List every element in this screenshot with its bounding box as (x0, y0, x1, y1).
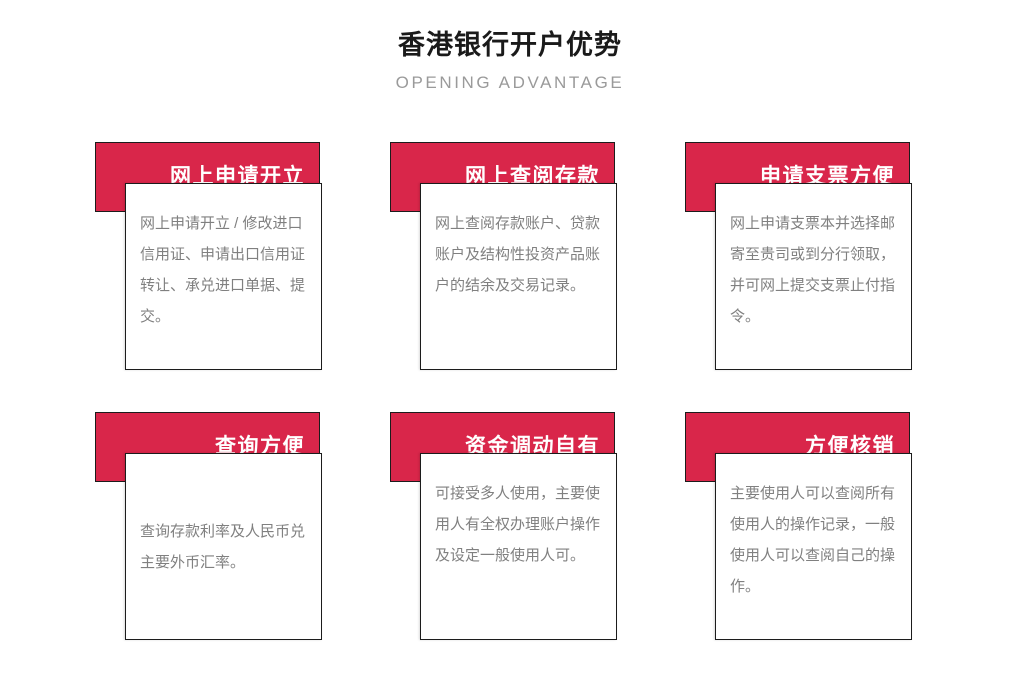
page-header: 香港银行开户优势 OPENING ADVANTAGE (0, 0, 1020, 96)
advantage-card-3[interactable]: 申请支票方便 网上申请支票本并选择邮寄至贵司或到分行领取，并可网上提交支票止付指… (680, 135, 940, 375)
advantage-card-6[interactable]: 方便核销 主要使用人可以查阅所有使用人的操作记录，一般使用人可以查阅自己的操作。 (680, 405, 940, 645)
card-row-1: 网上申请开立 网上申请开立 / 修改进口信用证、申请出口信用证转让、承兑进口单据… (0, 135, 1020, 405)
card-text-6: 主要使用人可以查阅所有使用人的操作记录，一般使用人可以查阅自己的操作。 (716, 454, 911, 602)
card-text-3: 网上申请支票本并选择邮寄至贵司或到分行领取，并可网上提交支票止付指令。 (716, 184, 911, 332)
page-subtitle: OPENING ADVANTAGE (0, 70, 1020, 96)
advantage-card-5[interactable]: 资金调动自有 可接受多人使用，主要使用人有全权办理账户操作及设定一般使用人可。 (385, 405, 645, 645)
advantage-card-1[interactable]: 网上申请开立 网上申请开立 / 修改进口信用证、申请出口信用证转让、承兑进口单据… (90, 135, 350, 375)
card-text-4: 查询存款利率及人民币兑主要外币汇率。 (126, 516, 321, 578)
card-body-2: 网上查阅存款账户、贷款账户及结构性投资产品账户的结余及交易记录。 (420, 183, 617, 370)
advantage-card-2[interactable]: 网上查阅存款 网上查阅存款账户、贷款账户及结构性投资产品账户的结余及交易记录。 (385, 135, 645, 375)
card-text-5: 可接受多人使用，主要使用人有全权办理账户操作及设定一般使用人可。 (421, 454, 616, 571)
card-body-5: 可接受多人使用，主要使用人有全权办理账户操作及设定一般使用人可。 (420, 453, 617, 640)
card-row-2: 查询方便 查询存款利率及人民币兑主要外币汇率。 资金调动自有 可接受多人使用，主… (0, 405, 1020, 675)
card-text-1: 网上申请开立 / 修改进口信用证、申请出口信用证转让、承兑进口单据、提交。 (126, 184, 321, 332)
card-body-4: 查询存款利率及人民币兑主要外币汇率。 (125, 453, 322, 640)
page-title: 香港银行开户优势 (0, 26, 1020, 64)
advantage-card-grid: 网上申请开立 网上申请开立 / 修改进口信用证、申请出口信用证转让、承兑进口单据… (0, 135, 1020, 675)
card-body-1: 网上申请开立 / 修改进口信用证、申请出口信用证转让、承兑进口单据、提交。 (125, 183, 322, 370)
card-text-2: 网上查阅存款账户、贷款账户及结构性投资产品账户的结余及交易记录。 (421, 184, 616, 301)
card-body-3: 网上申请支票本并选择邮寄至贵司或到分行领取，并可网上提交支票止付指令。 (715, 183, 912, 370)
advantage-card-4[interactable]: 查询方便 查询存款利率及人民币兑主要外币汇率。 (90, 405, 350, 645)
card-body-6: 主要使用人可以查阅所有使用人的操作记录，一般使用人可以查阅自己的操作。 (715, 453, 912, 640)
